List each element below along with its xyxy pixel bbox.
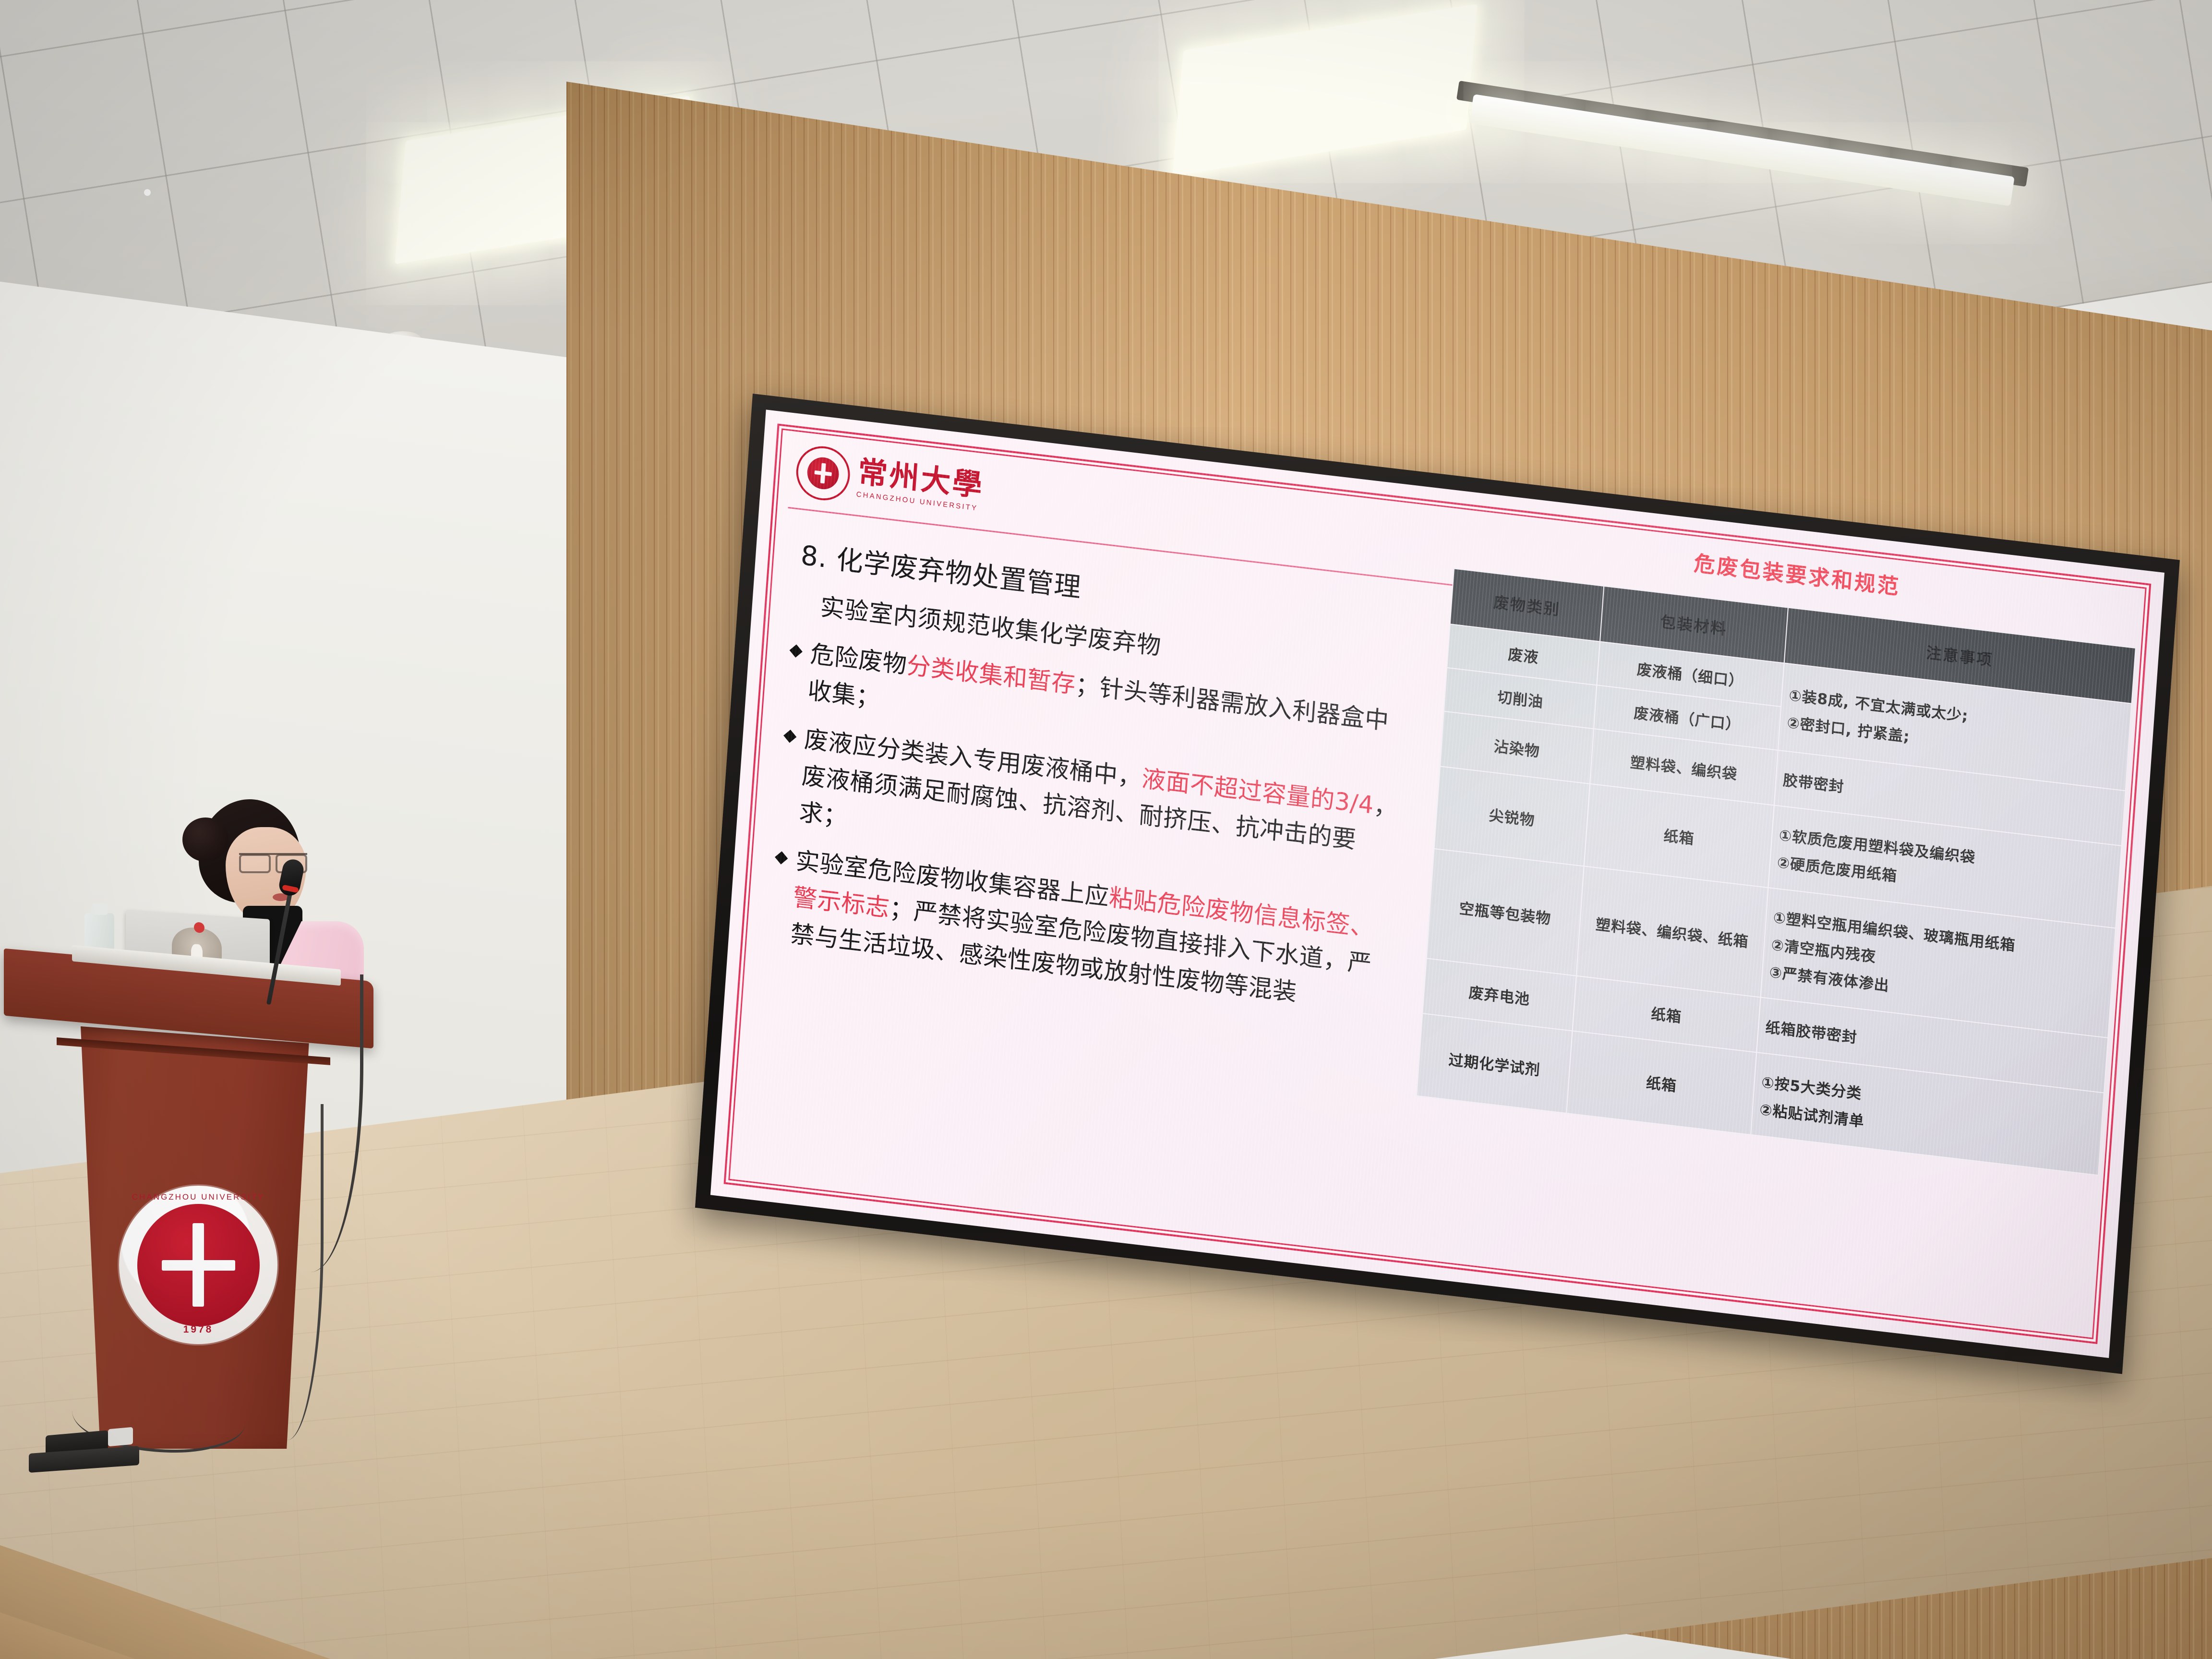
bullet-seg: ；针头等利器需放入利器盒中收集；: [807, 671, 1390, 735]
bullet-seg: 危险废物: [809, 640, 908, 679]
university-seal-icon: [794, 444, 852, 504]
diamond-bullet-icon: ◆: [782, 719, 798, 753]
diamond-bullet-icon: ◆: [788, 633, 804, 667]
jacket-button: [144, 189, 151, 196]
diamond-bullet-icon: ◆: [774, 840, 790, 874]
bottle-cap: [91, 903, 108, 915]
cell-waste-type: 过期化学试剂: [1417, 1013, 1573, 1113]
projection-screen[interactable]: 常州大學 CHANGZHOU UNIVERSITY 8. 化学废弃物处置管理 实…: [695, 394, 2180, 1374]
slide-text-column: 8. 化学废弃物处置管理 实验室内须规范收集化学废弃物 ◆ 危险废物分类收集和暂…: [768, 533, 1414, 1034]
presenter-hair-bun: [182, 817, 228, 862]
bullet-seg-red: 的3/4: [1310, 784, 1375, 819]
cell-waste-type: 空瓶等包装物: [1426, 849, 1584, 976]
packaging-requirements-table: 废物类别 包装材料 注意事项 废液 废液桶（细口） ①装8成, 不宜太满或太少;: [1416, 568, 2136, 1176]
screen-bezel: 常州大學 CHANGZHOU UNIVERSITY 8. 化学废弃物处置管理 实…: [695, 394, 2180, 1374]
university-logo: 常州大學 CHANGZHOU UNIVERSITY: [794, 444, 986, 519]
cell-material: 塑料袋、编织袋、纸箱: [1576, 866, 1768, 997]
lecture-hall-photo: 常州大學 CHANGZHOU UNIVERSITY 8. 化学废弃物处置管理 实…: [0, 0, 2212, 1659]
white-plug: [108, 1427, 133, 1447]
emblem-arc-text: CHANGZHOU UNIVERSITY: [119, 1192, 277, 1202]
bullet-seg-red: 分类收集和暂存: [906, 651, 1077, 699]
emblem-year: 1978: [119, 1324, 277, 1335]
presentation-slide: 常州大學 CHANGZHOU UNIVERSITY 8. 化学废弃物处置管理 实…: [710, 409, 2164, 1358]
packaging-table-zone: 危废包装要求和规范 废物类别 包装材料 注意事项 废液: [1416, 518, 2140, 1176]
emblem-inner-seal: [137, 1204, 260, 1326]
podium-university-emblem: CHANGZHOU UNIVERSITY 1978: [119, 1186, 277, 1344]
